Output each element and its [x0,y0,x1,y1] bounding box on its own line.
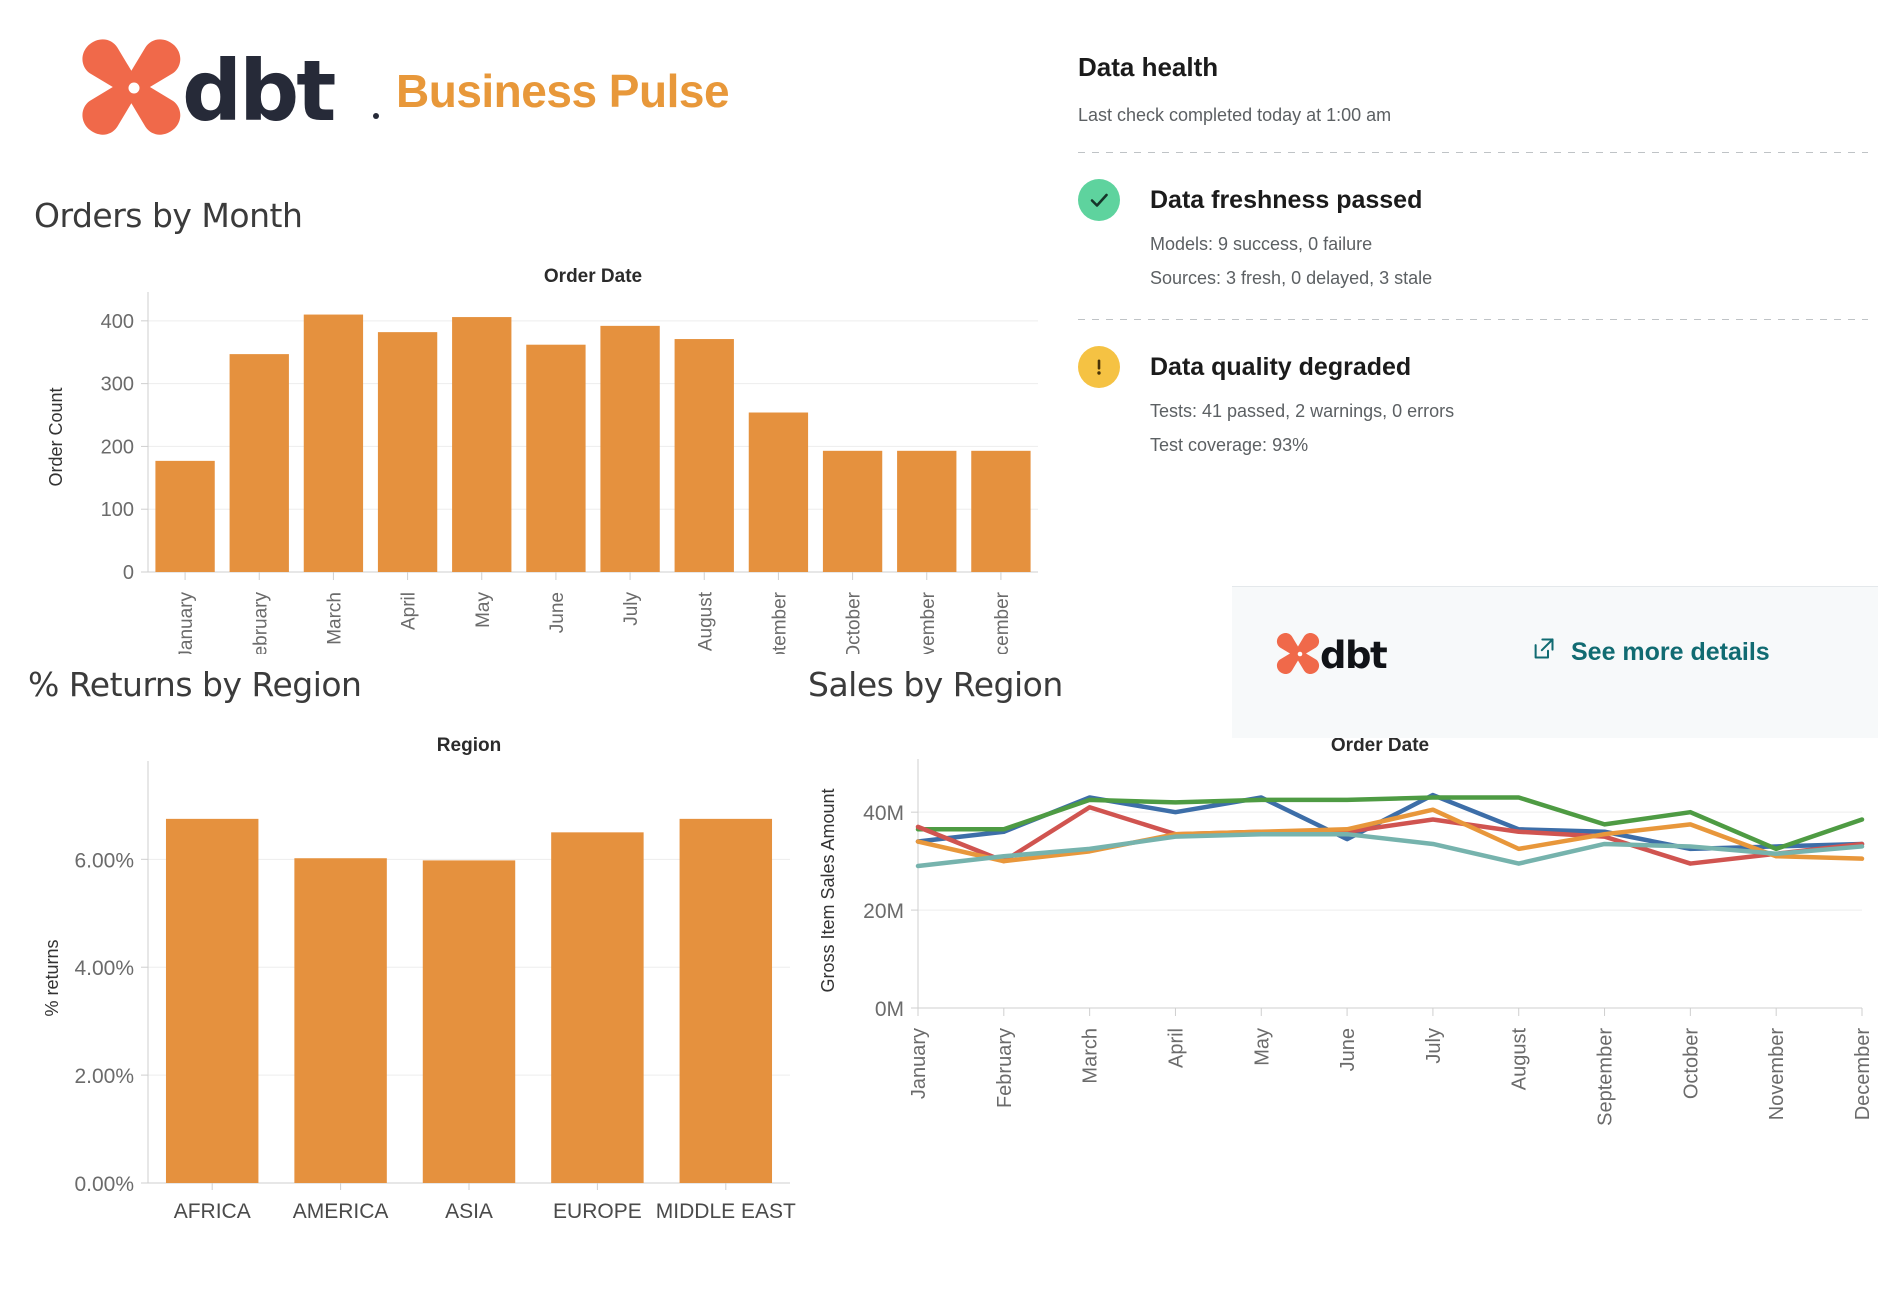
x-tick-label: September [769,591,790,654]
x-tick-label: June [1337,1028,1359,1071]
x-tick-label: November [1766,1028,1788,1121]
bar [823,451,882,572]
warning-circle-icon [1078,346,1120,388]
bar [230,354,289,572]
divider-2 [1078,319,1868,320]
returns-panel-title: % Returns by Region [28,665,361,704]
y-tick-label: 300 [101,374,134,396]
bar [452,317,511,572]
bar [294,858,386,1183]
bar [551,832,643,1183]
svg-text:dbt: dbt [1320,634,1387,677]
y-axis-label: Gross Item Sales Amount [818,788,838,992]
status-row-freshness: Data freshness passed Models: 9 success,… [1078,179,1868,289]
x-tick-label: July [621,592,642,626]
dbt-logo: dbt [78,36,388,141]
bar [600,326,659,572]
x-tick-label: December [1852,1028,1870,1121]
y-tick-label: 20M [863,900,904,923]
check-circle-icon [1078,179,1120,221]
returns-chart-title: Region [437,735,501,756]
y-tick-label: 0M [875,998,904,1021]
x-tick-label: August [695,591,716,651]
x-tick-label: February [250,592,271,654]
y-tick-label: 200 [101,436,134,458]
dbt-x-mark-small [1277,633,1319,674]
orders-by-month-panel: Orders by Month Order Date0100200300400O… [30,196,1040,656]
x-tick-label: March [324,592,345,645]
data-health-panel: Data health Last check completed today a… [1078,52,1868,582]
data-health-subtitle: Last check completed today at 1:00 am [1078,105,1868,126]
status-row-quality: Data quality degraded Tests: 41 passed, … [1078,346,1868,456]
divider-1 [1078,152,1868,153]
status-detail-coverage: Test coverage: 93% [1150,435,1868,456]
bar [423,860,515,1183]
status-detail-tests: Tests: 41 passed, 2 warnings, 0 errors [1150,401,1868,422]
data-health-title: Data health [1078,52,1868,83]
x-tick-label: April [399,592,420,630]
x-tick-label: AMERICA [293,1200,389,1223]
status-heading-freshness: Data freshness passed [1150,179,1868,221]
sales-by-region-panel: Sales by Region Order Date0M20M40MGross … [800,665,1870,1295]
x-tick-label: May [473,592,494,628]
returns-by-region-chart: Region0.00%2.00%4.00%6.00%% returnsAFRIC… [20,723,820,1283]
x-tick-label: MIDDLE EAST [656,1200,796,1223]
y-tick-label: 100 [101,499,134,521]
bar [304,315,363,572]
y-tick-label: 40M [863,802,904,825]
y-tick-label: 0 [123,562,134,584]
orders-chart-title: Order Date [544,266,642,287]
x-tick-label: January [908,1028,930,1099]
see-more-details-label: See more details [1571,638,1770,667]
bar [971,451,1030,572]
x-tick-label: ASIA [445,1200,493,1223]
bar [166,819,258,1183]
x-tick-label: AFRICA [174,1200,251,1223]
bar [675,339,734,572]
see-more-details-card[interactable]: dbt See more details [1232,586,1878,738]
status-detail-models: Models: 9 success, 0 failure [1150,234,1868,255]
x-tick-label: October [844,591,865,654]
bar [749,413,808,572]
bar [897,451,956,572]
status-detail-sources: Sources: 3 fresh, 0 delayed, 3 stale [1150,268,1868,289]
x-tick-label: October [1680,1028,1702,1099]
x-tick-label: November [918,591,939,654]
y-tick-label: 0.00% [74,1173,134,1196]
dbt-logo-small: dbt [1276,631,1404,677]
sales-panel-title: Sales by Region [808,665,1063,704]
x-tick-label: August [1509,1028,1531,1091]
page-title: Business Pulse [396,64,729,118]
y-tick-label: 400 [101,311,134,333]
external-link-icon [1530,635,1557,669]
sales-by-region-chart: Order Date0M20M40MGross Item Sales Amoun… [800,723,1870,1283]
y-tick-label: 6.00% [74,849,134,872]
y-axis-label: Order Count [46,387,66,486]
status-heading-quality: Data quality degraded [1150,346,1868,388]
sales-chart-title: Order Date [1331,735,1429,756]
dbt-x-mark [82,39,180,134]
x-tick-label: EUROPE [553,1200,642,1223]
bar [526,345,585,572]
y-tick-label: 4.00% [74,957,134,980]
x-tick-label: April [1165,1028,1187,1068]
orders-by-month-chart: Order Date0100200300400Order CountJanuar… [30,254,1040,654]
returns-by-region-panel: % Returns by Region Region0.00%2.00%4.00… [20,665,820,1295]
x-tick-label: December [992,591,1013,654]
y-tick-label: 2.00% [74,1065,134,1088]
x-tick-label: July [1423,1028,1445,1064]
x-tick-label: February [994,1028,1016,1108]
x-tick-label: September [1595,1028,1617,1126]
bar [680,819,772,1183]
x-tick-label: March [1080,1028,1102,1084]
x-tick-label: June [547,592,568,633]
orders-panel-title: Orders by Month [34,196,302,235]
y-axis-label: % returns [42,939,62,1016]
svg-text:dbt: dbt [182,42,335,140]
see-more-details-link[interactable]: See more details [1530,635,1770,669]
x-tick-label: May [1251,1028,1273,1066]
bar [155,461,214,572]
bar [378,332,437,572]
x-tick-label: January [176,592,197,654]
